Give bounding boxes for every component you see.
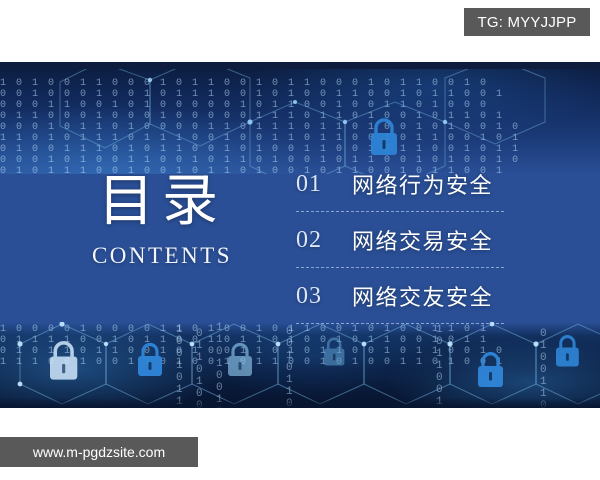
tg-badge: TG: MYYJJPP: [464, 8, 590, 36]
toc-divider: [296, 323, 504, 325]
tg-badge-label: TG: MYYJJPP: [478, 14, 577, 31]
page-title: 目录: [62, 172, 262, 232]
site-watermark: www.m-pgdzsite.com: [0, 437, 198, 467]
toc-entry-02[interactable]: 02 网络交易安全: [296, 220, 506, 260]
slide-content: 目录 CONTENTS 01 网络行为安全 02 网络交易安全 03 网络交友安…: [0, 62, 600, 408]
toc-number: 03: [296, 283, 352, 310]
site-watermark-label: www.m-pgdzsite.com: [33, 444, 165, 460]
presentation-slide: 1 0 1 0 0 1 1 0 0 0 1 0 1 1 0 0 1 0 1 1 …: [0, 62, 600, 408]
toc-number: 02: [296, 227, 352, 254]
toc-entry-01[interactable]: 01 网络行为安全: [296, 164, 506, 204]
table-of-contents: 01 网络行为安全 02 网络交易安全 03 网络交友安全: [296, 164, 506, 332]
toc-divider: [296, 267, 504, 269]
toc-entry-03[interactable]: 03 网络交友安全: [296, 276, 506, 316]
toc-label: 网络行为安全: [352, 168, 493, 200]
toc-divider: [296, 211, 504, 213]
page-subtitle: CONTENTS: [62, 242, 262, 270]
toc-label: 网络交友安全: [352, 280, 493, 312]
toc-number: 01: [296, 171, 352, 198]
title-block: 目录 CONTENTS: [62, 172, 262, 270]
toc-label: 网络交易安全: [352, 224, 493, 256]
